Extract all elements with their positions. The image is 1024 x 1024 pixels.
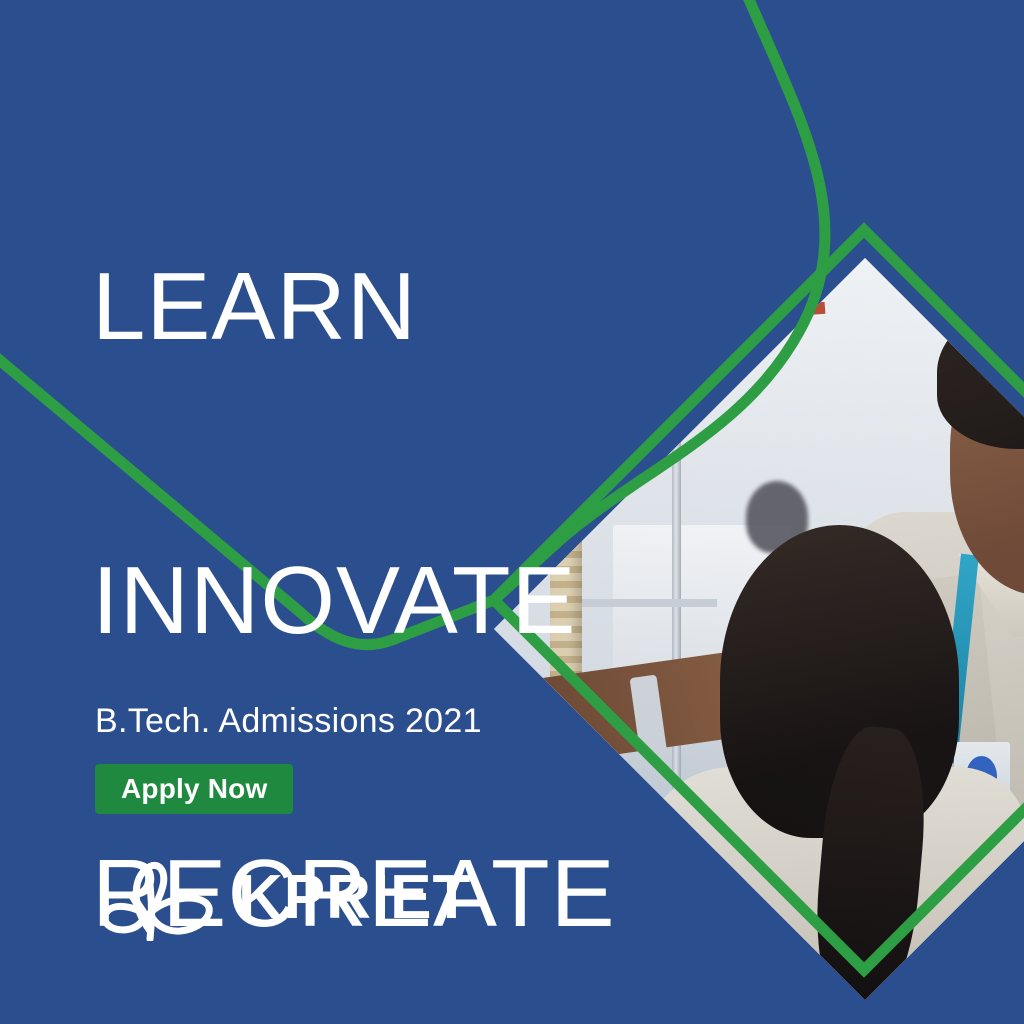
logo-wordmark: KPRIET xyxy=(238,867,471,929)
admissions-subtitle: B.Tech. Admissions 2021 xyxy=(95,702,482,741)
kpriet-petal-mark-icon xyxy=(98,855,216,941)
brand-logo[interactable]: KPRIET xyxy=(98,855,471,941)
admissions-poster: LEARN INNOVATE RECREATE B.Tech. Admissio… xyxy=(0,0,1024,1024)
faculty-ear xyxy=(1004,367,1018,395)
student-figure xyxy=(642,525,1024,1000)
lab-bench-leg xyxy=(672,822,688,985)
apply-now-button[interactable]: Apply Now xyxy=(95,764,293,814)
faculty-hair xyxy=(937,296,1024,449)
headline-line-1: LEARN xyxy=(92,258,616,356)
headline-line-2: INNOVATE xyxy=(92,552,616,650)
